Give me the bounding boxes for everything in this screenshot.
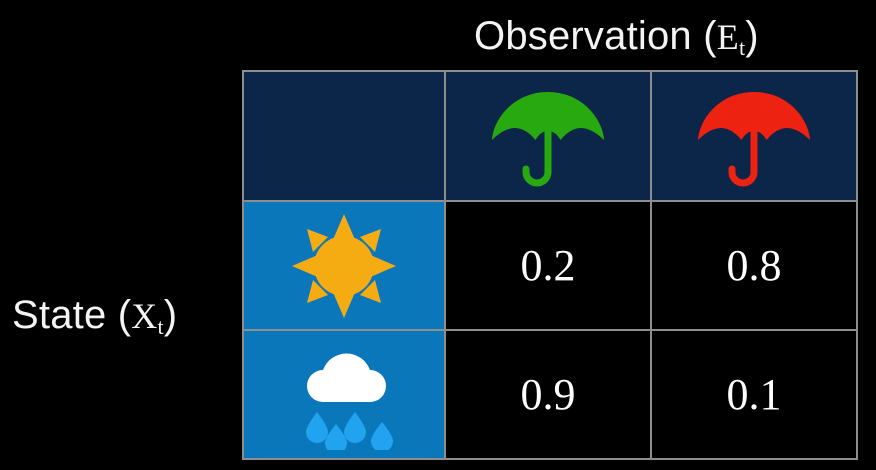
- row-header-rain-cloud: [243, 330, 445, 459]
- row-header-sun: [243, 201, 445, 330]
- observation-axis-label: Observation (Et): [474, 16, 759, 56]
- observation-subscript: t: [739, 35, 745, 60]
- figure-canvas: Observation (Et) State (Xt): [0, 0, 876, 470]
- observation-close-paren: ): [745, 14, 759, 58]
- column-header-umbrella-red: [651, 71, 857, 201]
- observation-open-paren: (: [703, 14, 717, 58]
- observation-label-text: Observation: [474, 14, 692, 58]
- probability-cell: 0.8: [651, 201, 857, 330]
- probability-cell: 0.2: [445, 201, 651, 330]
- state-subscript: t: [157, 314, 163, 339]
- probability-cell: 0.1: [651, 330, 857, 459]
- corner-cell: [243, 71, 445, 201]
- umbrella-red-icon: [652, 72, 856, 200]
- umbrella-green-icon: [446, 72, 650, 200]
- table-header-row: [243, 71, 857, 201]
- state-axis-label: State (Xt): [12, 295, 177, 335]
- column-header-umbrella-green: [445, 71, 651, 201]
- state-variable: X: [131, 296, 157, 336]
- observation-variable: E: [717, 17, 739, 57]
- state-open-paren: (: [118, 293, 132, 337]
- probability-cell: 0.9: [445, 330, 651, 459]
- state-close-paren: ): [164, 293, 178, 337]
- sensor-model-table: 0.2 0.8: [242, 70, 858, 460]
- state-label-text: State: [12, 293, 106, 337]
- table-row: 0.2 0.8: [243, 201, 857, 330]
- table-row: 0.9 0.1: [243, 330, 857, 459]
- rain-cloud-icon: [244, 331, 444, 458]
- sun-icon: [244, 202, 444, 329]
